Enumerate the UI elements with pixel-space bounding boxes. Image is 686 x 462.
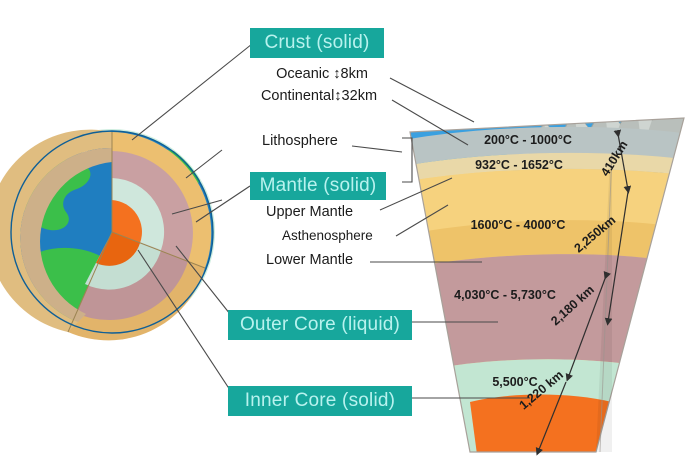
label-continental: Continental↕32km	[248, 88, 390, 104]
badge-mantle[interactable]: Mantle (solid)	[250, 172, 386, 200]
label-oceanic: Oceanic ↕8km	[258, 66, 386, 82]
badge-outer-core[interactable]: Outer Core (liquid)	[228, 310, 412, 340]
badge-crust[interactable]: Crust (solid)	[250, 28, 384, 58]
leader-oceanic	[390, 78, 474, 122]
label-upper-mantle: Upper Mantle	[266, 204, 376, 220]
leader-lithosphere	[352, 146, 402, 152]
lithosphere-bracket	[402, 138, 412, 182]
temp-upper-mantle: 932°C - 1652°C	[458, 157, 580, 173]
temp-lower-mantle: 1600°C - 4000°C	[452, 217, 584, 233]
label-lithosphere: Lithosphere	[262, 133, 350, 149]
leader-globe-upper	[186, 150, 222, 178]
temp-crust: 200°C - 1000°C	[470, 132, 586, 148]
leader-crust-globe	[132, 44, 252, 140]
label-asthenosphere: Asthenosphere	[282, 228, 396, 243]
temp-outer-core: 4,030°C - 5,730°C	[434, 287, 576, 303]
badge-inner-core[interactable]: Inner Core (solid)	[228, 386, 412, 416]
earth-globe	[0, 129, 215, 355]
earth-structure-diagram: Crust (solid) Mantle (solid) Outer Core …	[0, 0, 686, 462]
earth-wedge-slice	[398, 96, 686, 462]
label-lower-mantle: Lower Mantle	[266, 252, 372, 268]
